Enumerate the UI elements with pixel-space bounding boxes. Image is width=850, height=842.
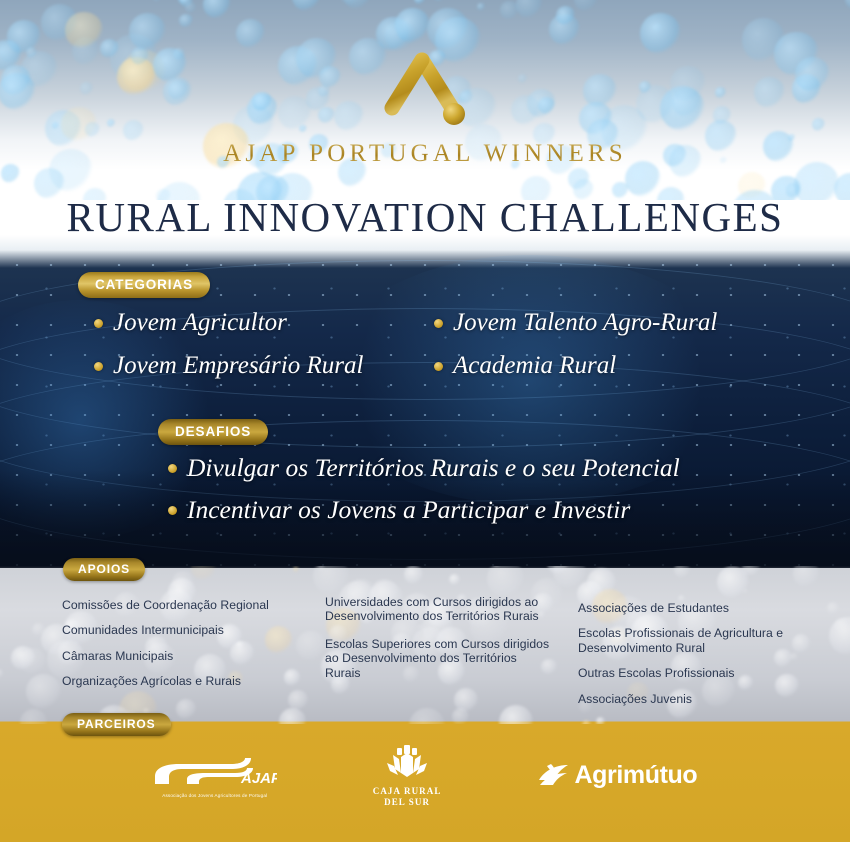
category-item: Jovem Talento Agro-Rural [434, 309, 717, 337]
apoios-column: Associações de Estudantes Escolas Profis… [578, 601, 803, 717]
partner-logo-caja-rural: CAJA RURAL DEL SUR [373, 743, 442, 807]
wheat-sheaf-icon [383, 743, 431, 783]
partner-logo-agrimutuo: Agrimútuo [537, 761, 697, 790]
badge-parceiros: PARCEIROS [62, 713, 171, 736]
category-item: Academia Rural [434, 352, 616, 380]
category-item: Jovem Agricultor [94, 309, 287, 337]
apoio-entry: Comissões de Coordenação Regional [62, 598, 332, 612]
badge-apoios: APOIOS [63, 558, 145, 581]
apoio-entry: Universidades com Cursos dirigidos ao De… [325, 595, 550, 624]
logo-container [0, 0, 850, 140]
bullet-dot-icon [168, 506, 177, 515]
category-label: Academia Rural [453, 352, 616, 380]
svg-text:AJAP: AJAP [240, 770, 277, 787]
badge-categorias: CATEGORIAS [78, 272, 210, 298]
bullet-dot-icon [434, 319, 443, 328]
agrimutuo-row: Agrimútuo [537, 761, 697, 790]
apoio-entry: Organizações Agrícolas e Rurais [62, 674, 332, 688]
ajap-tagline: Associação dos Jovens Agricultores de Po… [162, 793, 267, 798]
category-label: Jovem Agricultor [113, 309, 287, 337]
leaf-swoosh-icon [537, 761, 571, 789]
page-title: RURAL INNOVATION CHALLENGES [0, 193, 850, 241]
apoio-entry: Outras Escolas Profissionais [578, 666, 803, 680]
poster-header: AJAP PORTUGAL WINNERS RURAL INNOVATION C… [0, 0, 850, 140]
category-label: Jovem Empresário Rural [113, 352, 363, 380]
category-label: Jovem Talento Agro-Rural [453, 309, 717, 337]
apoio-entry: Comunidades Intermunicipais [62, 623, 332, 637]
apoios-columns: Comissões de Coordenação Regional Comuni… [0, 598, 850, 718]
partner-logo-ajap: AJAP Associação dos Jovens Agricultores … [153, 753, 277, 798]
category-item: Jovem Empresário Rural [94, 352, 363, 380]
caja-rural-text: CAJA RURAL DEL SUR [373, 786, 442, 807]
apoio-entry: Escolas Superiores com Cursos dirigidos … [325, 637, 550, 680]
badge-desafios: DESAFIOS [158, 419, 268, 445]
apoio-entry: Escolas Profissionais de Agricultura e D… [578, 626, 803, 655]
bullet-dot-icon [168, 464, 177, 473]
bullet-dot-icon [94, 362, 103, 371]
agrimutuo-wordmark: Agrimútuo [574, 761, 697, 790]
partner-logos: AJAP Associação dos Jovens Agricultores … [0, 740, 850, 810]
bullet-dot-icon [434, 362, 443, 371]
challenge-item: Divulgar os Territórios Rurais e o seu P… [168, 453, 680, 483]
brand-line: AJAP PORTUGAL WINNERS [0, 140, 850, 168]
challenge-item: Incentivar os Jovens a Participar e Inve… [168, 495, 630, 525]
challenge-label: Divulgar os Territórios Rurais e o seu P… [187, 453, 680, 483]
apoio-entry: Associações Juvenis [578, 692, 803, 706]
caja-line-1: CAJA RURAL [373, 786, 442, 797]
apoio-entry: Câmaras Municipais [62, 649, 332, 663]
challenge-label: Incentivar os Jovens a Participar e Inve… [187, 495, 630, 525]
apoios-column: Comissões de Coordenação Regional Comuni… [62, 598, 332, 700]
bullet-dot-icon [94, 319, 103, 328]
caja-line-2: DEL SUR [373, 797, 442, 808]
apoio-entry: Associações de Estudantes [578, 601, 803, 615]
ajap-triangle-dot-logo-icon [376, 52, 474, 132]
apoios-column: Universidades com Cursos dirigidos ao De… [325, 595, 550, 693]
poster-canvas: AJAP PORTUGAL WINNERS RURAL INNOVATION C… [0, 0, 850, 842]
ajap-swoosh-icon: AJAP [153, 753, 277, 791]
